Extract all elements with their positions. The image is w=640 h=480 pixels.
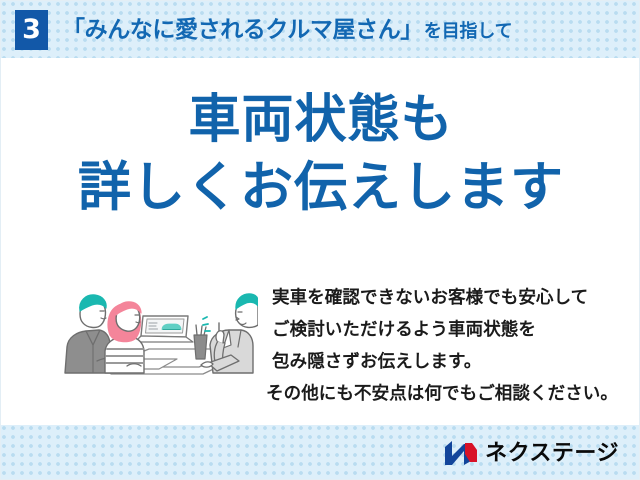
body-copy-line-2: ご検討いただけるよう車両状態を xyxy=(266,314,616,346)
nextage-logo-text: ネクステージ xyxy=(485,442,619,464)
banner-main: 車両状態も 詳しくお伝えします xyxy=(1,58,640,425)
consultation-illustration-svg xyxy=(53,273,258,385)
nextage-n-mark-svg xyxy=(444,440,478,466)
promo-banner: 3 「みんなに愛されるクルマ屋さん」 を目指して 車両状態も 詳しくお伝えします xyxy=(0,0,640,480)
consultation-illustration xyxy=(53,273,258,385)
body-copy: 実車を確認できないお客様でも安心して ご検討いただけるよう車両状態を 包み隠さず… xyxy=(266,282,616,409)
headline: 車両状態も 詳しくお伝えします xyxy=(1,91,640,219)
headline-line-2: 詳しくお伝えします xyxy=(1,158,640,218)
section-number-badge: 3 xyxy=(15,10,48,50)
header-title-sub: を目指して xyxy=(424,22,512,40)
header-title: 「みんなに愛されるクルマ屋さん」 を目指して xyxy=(62,18,512,41)
nextage-logo: ネクステージ xyxy=(444,440,619,466)
banner-footer: ネクステージ xyxy=(1,425,640,480)
nextage-n-mark-icon xyxy=(444,440,478,466)
body-copy-line-1: 実車を確認できないお客様でも安心して xyxy=(266,282,616,314)
header-title-main: 「みんなに愛されるクルマ屋さん」 xyxy=(62,18,423,41)
body-copy-line-4: その他にも不安点は何でもご相談ください。 xyxy=(266,378,616,410)
body-copy-line-3: 包み隠さずお伝えします。 xyxy=(266,346,616,378)
banner-header: 3 「みんなに愛されるクルマ屋さん」 を目指して xyxy=(1,1,640,58)
headline-line-1: 車両状態も xyxy=(1,91,640,150)
